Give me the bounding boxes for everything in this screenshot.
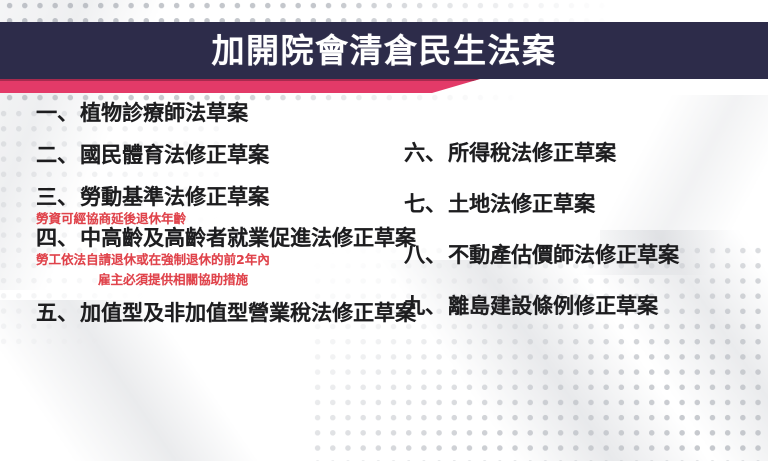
list-item-label: 中高齡及高齡者就業促進法修正草案 (80, 228, 416, 249)
list-item-label: 離島建設條例修正草案 (448, 296, 658, 317)
list-item-number: 五、 (36, 303, 78, 324)
bill-list-area: 一、 植物診療師法草案 二、 國民體育法修正草案 三、 勞動基準法修正草案 勞資… (0, 95, 768, 461)
list-item-number: 六、 (404, 143, 446, 164)
list-item-label: 不動產估價師法修正草案 (448, 245, 679, 266)
list-item: 二、 國民體育法修正草案 (36, 145, 436, 166)
list-item: 五、 加值型及非加值型營業稅法修正草案 (36, 303, 436, 324)
list-item: 七、 土地法修正草案 (404, 194, 764, 215)
list-item-label: 勞動基準法修正草案 (80, 187, 269, 208)
list-item-number: 七、 (404, 194, 446, 215)
list-item-label: 加值型及非加值型營業稅法修正草案 (80, 303, 416, 324)
list-item: 三、 勞動基準法修正草案 (36, 187, 436, 208)
bill-list-left-column: 一、 植物診療師法草案 二、 國民體育法修正草案 三、 勞動基準法修正草案 勞資… (36, 103, 436, 345)
list-item: 九、 離島建設條例修正草案 (404, 296, 764, 317)
title-band: 加開院會清倉民生法案 (0, 22, 768, 79)
list-item: 八、 不動產估價師法修正草案 (404, 245, 764, 266)
list-item-number: 九、 (404, 296, 446, 317)
accent-bar (0, 79, 480, 93)
list-item-number: 四、 (36, 228, 78, 249)
bill-list-right-column: 六、 所得稅法修正草案 七、 土地法修正草案 八、 不動產估價師法修正草案 九、… (404, 143, 764, 347)
list-item-label: 所得稅法修正草案 (448, 143, 616, 164)
list-item-number: 三、 (36, 187, 78, 208)
annotation-note: 雇主必須提供相關協助措施 (98, 271, 436, 289)
list-item-number: 二、 (36, 145, 78, 166)
list-item-label: 土地法修正草案 (448, 194, 595, 215)
list-item: 六、 所得稅法修正草案 (404, 143, 764, 164)
list-item-label: 國民體育法修正草案 (80, 145, 269, 166)
slide-canvas: 加開院會清倉民生法案 一、 植物診療師法草案 二、 國民體育法修正草案 三、 勞… (0, 0, 768, 461)
list-item: 一、 植物診療師法草案 (36, 103, 436, 124)
annotation-note: 勞工依法自請退休或在強制退休的前2年內 (36, 251, 436, 269)
list-item-number: 一、 (36, 103, 78, 124)
dot-pattern-top (0, 0, 768, 22)
page-title: 加開院會清倉民生法案 (212, 34, 557, 67)
list-item-label: 植物診療師法草案 (80, 103, 248, 124)
list-item: 四、 中高齡及高齡者就業促進法修正草案 (36, 228, 436, 249)
list-item-number: 八、 (404, 245, 446, 266)
